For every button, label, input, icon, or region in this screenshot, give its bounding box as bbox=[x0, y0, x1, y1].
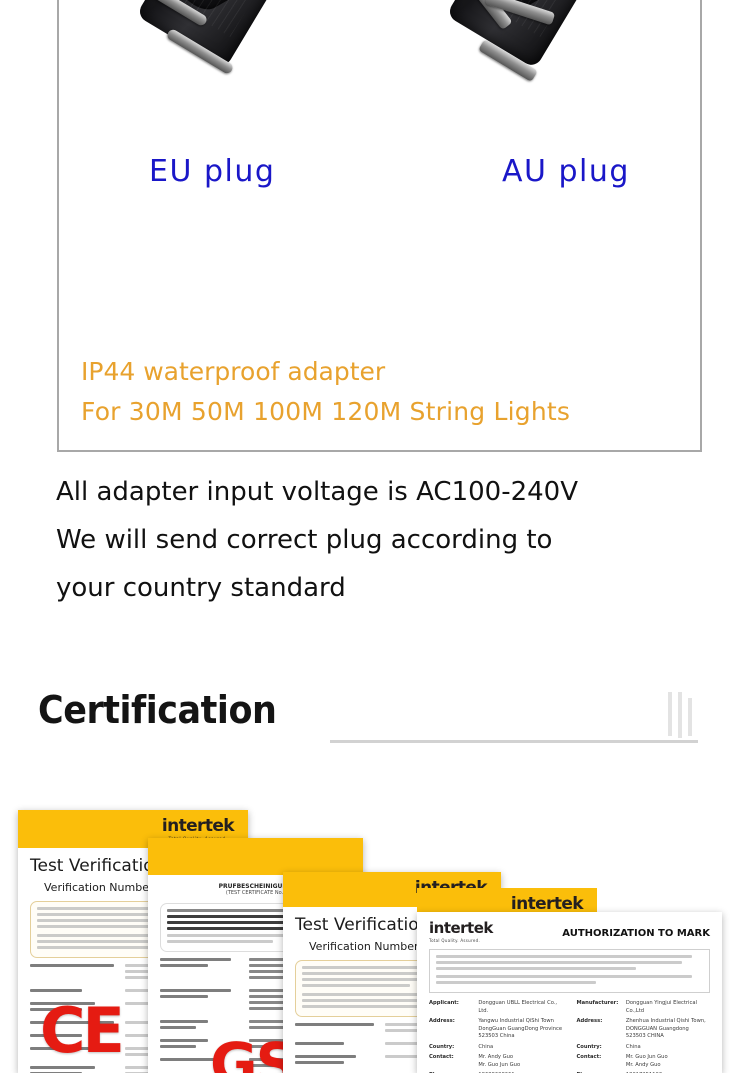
certificate-gallery: intertek Total Quality. Assured. Test Ve… bbox=[0, 800, 750, 1073]
cert-atm-notebox bbox=[429, 949, 710, 993]
cert-atm-columns: Applicant:Dongguan UBLL Electrical Co., … bbox=[417, 993, 722, 1073]
certification-rule bbox=[330, 740, 698, 743]
au-plug-label: AU plug bbox=[502, 154, 630, 189]
ce-mark-watermark: CE bbox=[40, 1000, 122, 1062]
certification-header: Certification bbox=[0, 688, 750, 750]
certification-title: Certification bbox=[38, 688, 276, 732]
cert-atm-applicant-column: Applicant:Dongguan UBLL Electrical Co., … bbox=[429, 1000, 563, 1073]
cert-atm-title: AUTHORIZATION TO MARK bbox=[562, 928, 710, 939]
panel-headline: IP44 waterproof adapter For 30M 50M 100M… bbox=[81, 352, 681, 432]
cert-gs-header-band bbox=[148, 838, 363, 875]
certificate-card-authorization[interactable]: intertek Total Quality. Assured. AUTHORI… bbox=[417, 912, 722, 1073]
eu-plug-label: EU plug bbox=[149, 154, 275, 189]
eu-adapter-body bbox=[136, 0, 326, 69]
headline-line-2: For 30M 50M 100M 120M String Lights bbox=[81, 392, 681, 432]
voltage-note-line-1: All adapter input voltage is AC100-240V bbox=[56, 468, 716, 516]
intertek-logo: intertek Total Quality. Assured. bbox=[429, 921, 493, 943]
cert-atm-manufacturer-column: Manufacturer:Dongguan Yingjui Electrical… bbox=[577, 1000, 711, 1073]
plug-comparison-panel: EU plug AU plug IP44 waterproof adapter … bbox=[57, 0, 702, 452]
voltage-note-line-2: We will send correct plug according to bbox=[56, 516, 716, 564]
voltage-note-line-3: your country standard bbox=[56, 564, 716, 612]
voltage-note: All adapter input voltage is AC100-240V … bbox=[56, 468, 716, 612]
product-detail-page: EU plug AU plug IP44 waterproof adapter … bbox=[0, 0, 750, 1073]
headline-line-1: IP44 waterproof adapter bbox=[81, 352, 681, 392]
plug-photo-stage: EU plug AU plug bbox=[59, 0, 700, 242]
cert-atm-head: intertek Total Quality. Assured. AUTHORI… bbox=[417, 912, 722, 947]
